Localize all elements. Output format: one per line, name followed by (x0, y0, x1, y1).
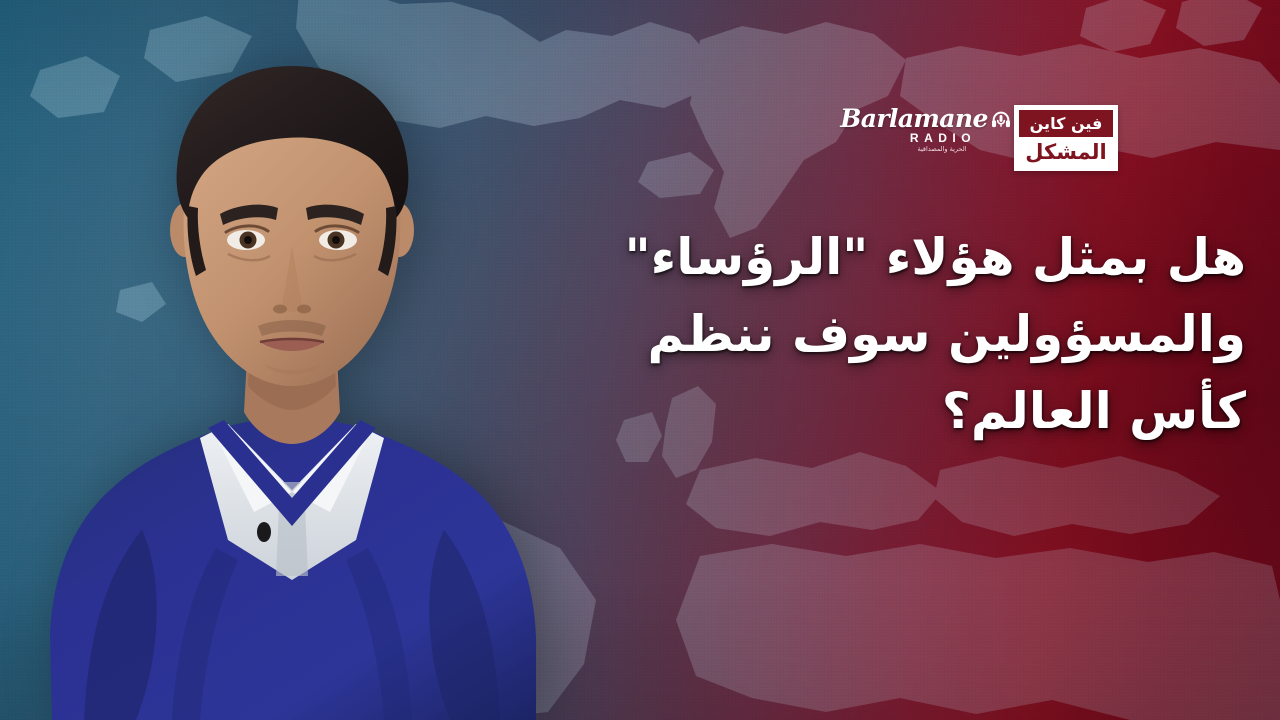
show-logo-box: فين كاين المشكل (1014, 105, 1118, 171)
brand-wordmark-row: Barlamane (840, 106, 1012, 131)
presenter-portrait (0, 20, 592, 720)
thumbnail-canvas: هل بمثل هؤلاء "الرؤساء" والمسؤولين سوف ن… (0, 0, 1280, 720)
headset-microphone-icon (990, 109, 1012, 131)
show-logo-line-bottom: المشكل (1019, 139, 1113, 166)
brand-name: Barlamane (840, 106, 988, 131)
brand-subtitle: RADIO (910, 132, 976, 144)
brand-tagline: الحرية والمصداقية (917, 146, 966, 153)
barlamane-radio-logo: Barlamane RADIO الحرية والمصداقية (856, 106, 996, 164)
show-logo-line-top: فين كاين (1019, 110, 1113, 137)
